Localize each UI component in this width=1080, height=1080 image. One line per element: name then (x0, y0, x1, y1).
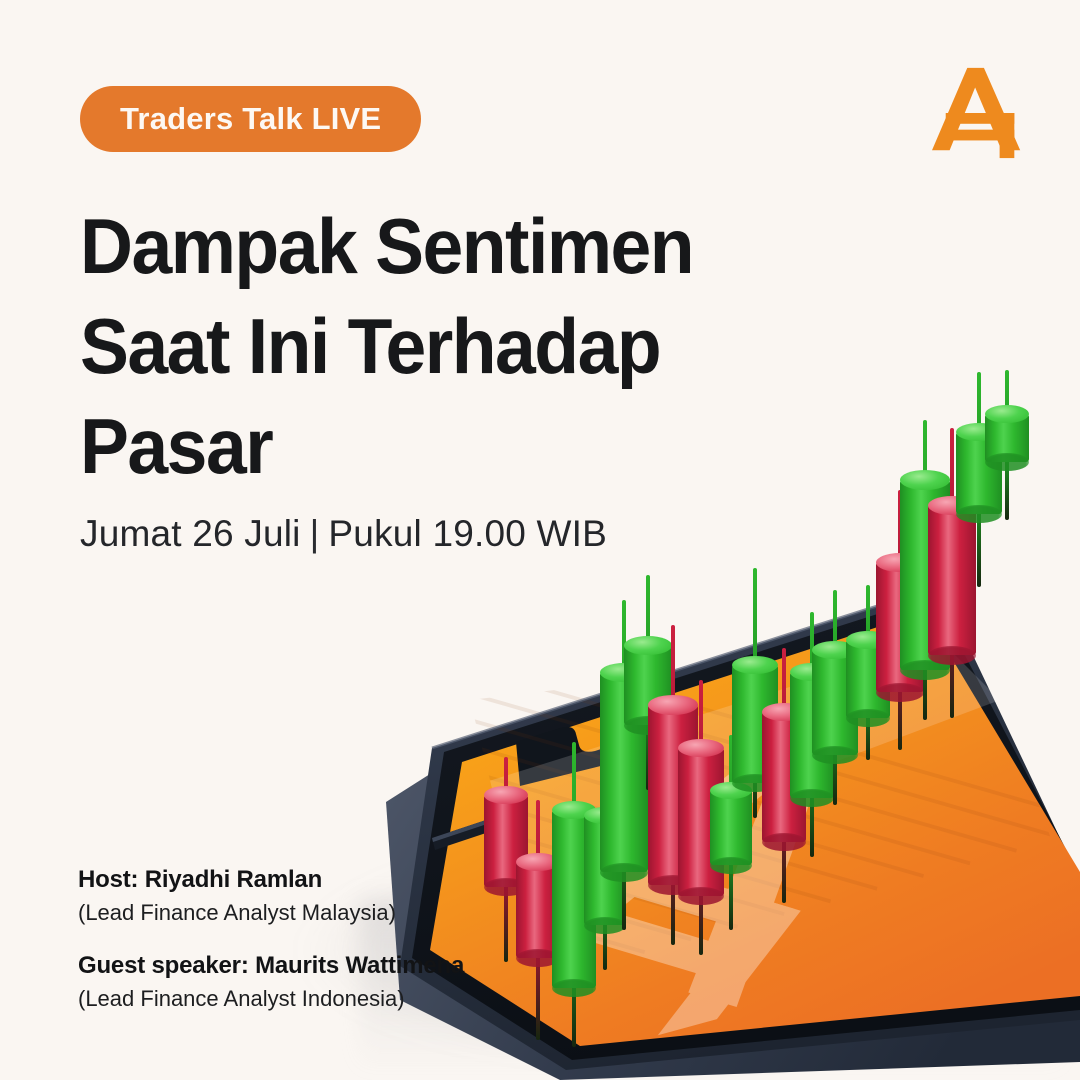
candle-base (552, 979, 596, 997)
event-date: Jumat 26 Juli (80, 513, 301, 554)
page-title: Dampak Sentimen Saat Ini Terhadap Pasar (80, 196, 757, 496)
candle-cap (900, 470, 950, 490)
poster-canvas: Traders Talk LIVE Dampak Sentimen Saat I… (0, 0, 1080, 1080)
candle-base (812, 746, 858, 764)
candle-body (710, 790, 752, 865)
candle-base (876, 683, 924, 702)
host-role: (Lead Finance Analyst Malaysia) (78, 900, 464, 926)
candle-cap (985, 405, 1029, 423)
speaker-credits: Host: Riyadhi Ramlan (Lead Finance Analy… (78, 866, 464, 1038)
host-name: Host: Riyadhi Ramlan (78, 866, 464, 894)
candle-cap (484, 786, 528, 804)
guest-role: (Lead Finance Analyst Indonesia) (78, 986, 464, 1012)
candle-base (584, 917, 626, 934)
guest-name: Guest speaker: Maurits Wattimena (78, 952, 464, 980)
headline-line-3: Pasar (80, 396, 757, 496)
candle-base (678, 887, 724, 905)
candle-base (985, 453, 1029, 471)
candle-cap (648, 695, 698, 715)
event-schedule: Jumat 26 Juli|Pukul 19.00 WIB (80, 513, 607, 555)
candle-base (956, 505, 1002, 523)
candle-cap (678, 739, 724, 757)
candle-base (710, 857, 752, 874)
candle-cap (624, 636, 672, 655)
candle-body (928, 505, 976, 655)
live-badge[interactable]: Traders Talk LIVE (80, 86, 421, 152)
guest-credit: Guest speaker: Maurits Wattimena (Lead F… (78, 952, 464, 1012)
candle-base (762, 833, 806, 851)
candle-base (846, 709, 890, 727)
headline-line-2: Saat Ini Terhadap (80, 296, 757, 396)
candle-cap (732, 656, 778, 674)
candle-base (600, 863, 648, 882)
event-time: Pukul 19.00 WIB (328, 513, 607, 554)
candle-base (790, 789, 834, 807)
schedule-separator: | (301, 513, 329, 555)
brand-logo (932, 64, 1030, 162)
octa-a-logo-icon (932, 64, 1030, 162)
candle-base (928, 646, 976, 665)
host-credit: Host: Riyadhi Ramlan (Lead Finance Analy… (78, 866, 464, 926)
headline-line-1: Dampak Sentimen (80, 196, 757, 296)
